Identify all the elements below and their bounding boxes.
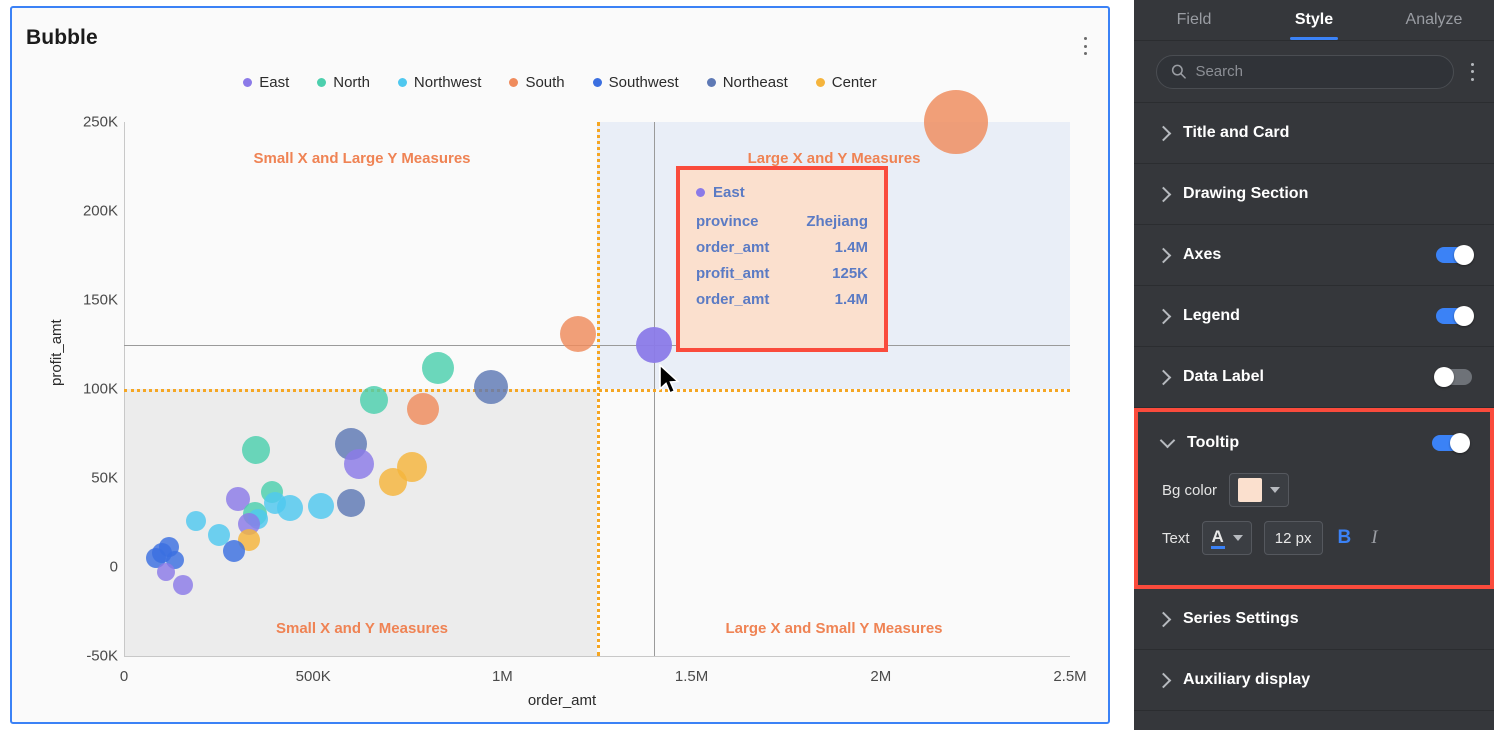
tooltip-row-key: profit_amt — [696, 265, 769, 282]
section-auxiliary-display[interactable]: Auxiliary display — [1134, 650, 1494, 711]
tooltip-row-key: order_amt — [696, 239, 769, 256]
text-label: Text — [1162, 530, 1190, 547]
tooltip-row-key: province — [696, 213, 759, 230]
section-title: Auxiliary display — [1183, 671, 1472, 689]
section-title: Title and Card — [1183, 124, 1472, 142]
chevron-right-icon — [1156, 308, 1172, 324]
legend-item-southwest[interactable]: Southwest — [593, 74, 679, 91]
x-tick-label: 500K — [296, 668, 331, 685]
chevron-right-icon — [1156, 247, 1172, 263]
tooltip-series-name: East — [713, 184, 745, 201]
axes-toggle[interactable] — [1436, 247, 1472, 263]
legend-label: Northeast — [723, 74, 788, 91]
tooltip-row-value: 1.4M — [835, 291, 868, 308]
chart-pane: Bubble EastNorthNorthwestSouthSouthwestN… — [0, 0, 1134, 730]
tooltip-row-value: Zhejiang — [806, 213, 868, 230]
section-title: Series Settings — [1183, 610, 1472, 628]
legend-item-east[interactable]: East — [243, 74, 289, 91]
panel-sections-bottom: Series SettingsAuxiliary display — [1134, 589, 1494, 711]
tab-field[interactable]: Field — [1134, 0, 1254, 40]
data-label-toggle[interactable] — [1436, 369, 1472, 385]
chevron-down-icon — [1270, 487, 1280, 493]
y-tick-label: 100K — [83, 381, 118, 398]
legend-item-north[interactable]: North — [317, 74, 370, 91]
bubble-point[interactable] — [560, 316, 596, 352]
mouse-cursor-icon — [658, 364, 680, 401]
tooltip-header: East — [696, 184, 868, 201]
bold-button[interactable]: B — [1335, 527, 1355, 549]
bubble-point[interactable] — [223, 540, 245, 562]
x-tick-label: 0 — [120, 668, 128, 685]
legend-item-center[interactable]: Center — [816, 74, 877, 91]
style-panel: FieldStyleAnalyze Title and CardDrawing … — [1134, 0, 1494, 730]
legend-item-northeast[interactable]: Northeast — [707, 74, 788, 91]
chevron-down-icon — [1160, 433, 1176, 449]
y-tick-label: 250K — [83, 114, 118, 131]
bubble-chart-card[interactable]: Bubble EastNorthNorthwestSouthSouthwestN… — [10, 6, 1110, 724]
plot-area[interactable]: Small X and Large Y MeasuresLarge X and … — [124, 122, 1070, 656]
quadrant-label-top-left: Small X and Large Y Measures — [253, 150, 470, 167]
section-series-settings[interactable]: Series Settings — [1134, 589, 1494, 650]
x-axis-title: order_amt — [12, 692, 1110, 709]
x-tick-label: 2M — [870, 668, 891, 685]
x-axis-tick-labels: 0500K1M1.5M2M2.5M — [124, 668, 1070, 688]
bubble-point[interactable] — [186, 511, 206, 531]
section-title: Data Label — [1183, 368, 1424, 386]
legend-label: Northwest — [414, 74, 482, 91]
tooltip-series-dot-icon — [696, 188, 705, 197]
tooltip-row-value: 125K — [832, 265, 868, 282]
chevron-right-icon — [1156, 672, 1172, 688]
panel-more-vertical-icon[interactable] — [1464, 61, 1480, 83]
section-legend[interactable]: Legend — [1134, 286, 1494, 347]
y-tick-label: 0 — [110, 559, 118, 576]
chart-legend: EastNorthNorthwestSouthSouthwestNortheas… — [12, 74, 1108, 91]
y-axis-title: profit_amt — [48, 319, 65, 386]
tooltip-row: order_amt1.4M — [696, 239, 868, 256]
panel-sections-top: Title and CardDrawing SectionAxesLegendD… — [1134, 103, 1494, 408]
legend-label: Center — [832, 74, 877, 91]
page-title: Bubble — [26, 26, 98, 50]
font-color-glyph: A — [1211, 528, 1225, 549]
bg-color-swatch — [1238, 478, 1262, 502]
legend-dot-icon — [317, 78, 326, 87]
legend-item-northwest[interactable]: Northwest — [398, 74, 482, 91]
chart-card-more-vertical-icon[interactable] — [1076, 34, 1094, 58]
tooltip-rows: provinceZhejiangorder_amt1.4Mprofit_amt1… — [696, 213, 868, 308]
section-title: Axes — [1183, 246, 1424, 264]
legend-label: North — [333, 74, 370, 91]
legend-dot-icon — [816, 78, 825, 87]
x-tick-label: 2.5M — [1053, 668, 1086, 685]
section-title: Drawing Section — [1183, 185, 1472, 203]
section-drawing-section[interactable]: Drawing Section — [1134, 164, 1494, 225]
bubble-point[interactable] — [379, 468, 407, 496]
x-tick-label: 1.5M — [675, 668, 708, 685]
tooltip-row: provinceZhejiang — [696, 213, 868, 230]
chevron-right-icon — [1156, 369, 1172, 385]
x-tick-label: 1M — [492, 668, 513, 685]
bubble-point[interactable] — [360, 386, 388, 414]
panel-tabs: FieldStyleAnalyze — [1134, 0, 1494, 41]
quadrant-label-bottom-left: Small X and Y Measures — [276, 620, 448, 637]
bubble-point[interactable] — [407, 393, 439, 425]
tooltip-settings-section: Tooltip Bg color Text A — [1134, 408, 1494, 589]
text-style-row: Text A 12 px B I — [1162, 521, 1490, 555]
section-data-label[interactable]: Data Label — [1134, 347, 1494, 408]
y-tick-label: 150K — [83, 292, 118, 309]
legend-dot-icon — [509, 78, 518, 87]
panel-search-row — [1134, 41, 1494, 103]
section-header-tooltip[interactable]: Tooltip — [1138, 412, 1490, 473]
section-title-and-card[interactable]: Title and Card — [1134, 103, 1494, 164]
tooltip-settings-body: Bg color Text A 12 px B — [1138, 473, 1490, 585]
chart-tooltip: East provinceZhejiangorder_amt1.4Mprofit… — [676, 166, 888, 352]
legend-toggle[interactable] — [1436, 308, 1472, 324]
chevron-right-icon — [1156, 125, 1172, 141]
quadrant-label-top-right: Large X and Y Measures — [748, 150, 921, 167]
section-title-tooltip: Tooltip — [1187, 434, 1420, 452]
legend-dot-icon — [593, 78, 602, 87]
y-tick-label: 50K — [91, 470, 118, 487]
legend-dot-icon — [707, 78, 716, 87]
legend-label: Southwest — [609, 74, 679, 91]
search-icon — [1171, 63, 1186, 80]
tooltip-toggle[interactable] — [1432, 435, 1468, 451]
legend-label: South — [525, 74, 564, 91]
legend-item-south[interactable]: South — [509, 74, 564, 91]
section-title: Legend — [1183, 307, 1424, 325]
quadrant-label-bottom-right: Large X and Small Y Measures — [725, 620, 942, 637]
y-axis-tick-labels: 250K200K150K100K50K0-50K — [52, 122, 118, 656]
italic-button[interactable]: I — [1366, 527, 1382, 549]
tooltip-row: profit_amt125K — [696, 265, 868, 282]
bubble-point[interactable] — [344, 449, 374, 479]
y-tick-label: 200K — [83, 203, 118, 220]
bubble-point[interactable] — [337, 489, 365, 517]
search-box[interactable] — [1156, 55, 1454, 89]
legend-dot-icon — [398, 78, 407, 87]
bg-color-row: Bg color — [1162, 473, 1490, 507]
font-color-picker[interactable]: A — [1202, 521, 1252, 555]
tooltip-row: order_amt1.4M — [696, 291, 868, 308]
chevron-down-icon — [1233, 535, 1243, 541]
tooltip-row-value: 1.4M — [835, 239, 868, 256]
x-axis-line — [124, 656, 1070, 657]
bubble-point[interactable] — [636, 327, 672, 363]
tooltip-row-key: order_amt — [696, 291, 769, 308]
tab-analyze[interactable]: Analyze — [1374, 0, 1494, 40]
section-axes[interactable]: Axes — [1134, 225, 1494, 286]
bg-color-picker[interactable] — [1229, 473, 1289, 507]
bubble-point[interactable] — [157, 563, 175, 581]
chevron-right-icon — [1156, 186, 1172, 202]
tab-style[interactable]: Style — [1254, 0, 1374, 40]
bubble-point[interactable] — [422, 352, 454, 384]
font-size-input[interactable]: 12 px — [1264, 521, 1323, 555]
font-size-value: 12 px — [1275, 530, 1312, 547]
bg-color-label: Bg color — [1162, 482, 1217, 499]
y-tick-label: -50K — [86, 648, 118, 665]
search-input[interactable] — [1195, 63, 1439, 80]
legend-dot-icon — [243, 78, 252, 87]
legend-label: East — [259, 74, 289, 91]
bubble-point[interactable] — [242, 436, 270, 464]
bubble-point[interactable] — [924, 90, 988, 154]
reference-line-horizontal — [124, 389, 1070, 392]
bubble-point[interactable] — [173, 575, 193, 595]
chevron-right-icon — [1156, 611, 1172, 627]
